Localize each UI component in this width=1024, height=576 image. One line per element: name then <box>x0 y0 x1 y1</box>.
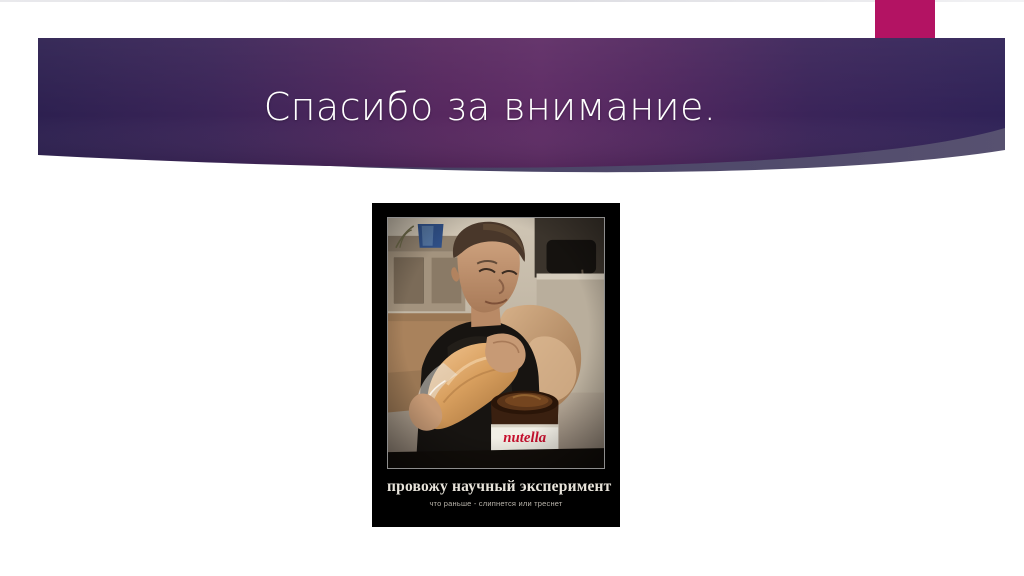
poster-photo-frame: nutella <box>387 217 605 469</box>
page-title: Спасибо за внимание. <box>0 86 980 130</box>
demotivator-poster: nutella провожу научный эксперимент что … <box>372 203 620 527</box>
poster-caption: провожу научный эксперимент <box>387 479 605 495</box>
poster-subcaption: что раньше - слипнется или треснет <box>387 500 605 508</box>
poster-photo: nutella <box>388 218 604 468</box>
slide-canvas: Спасибо за внимание. <box>0 0 1024 576</box>
header-banner: Спасибо за внимание. <box>0 0 1024 200</box>
